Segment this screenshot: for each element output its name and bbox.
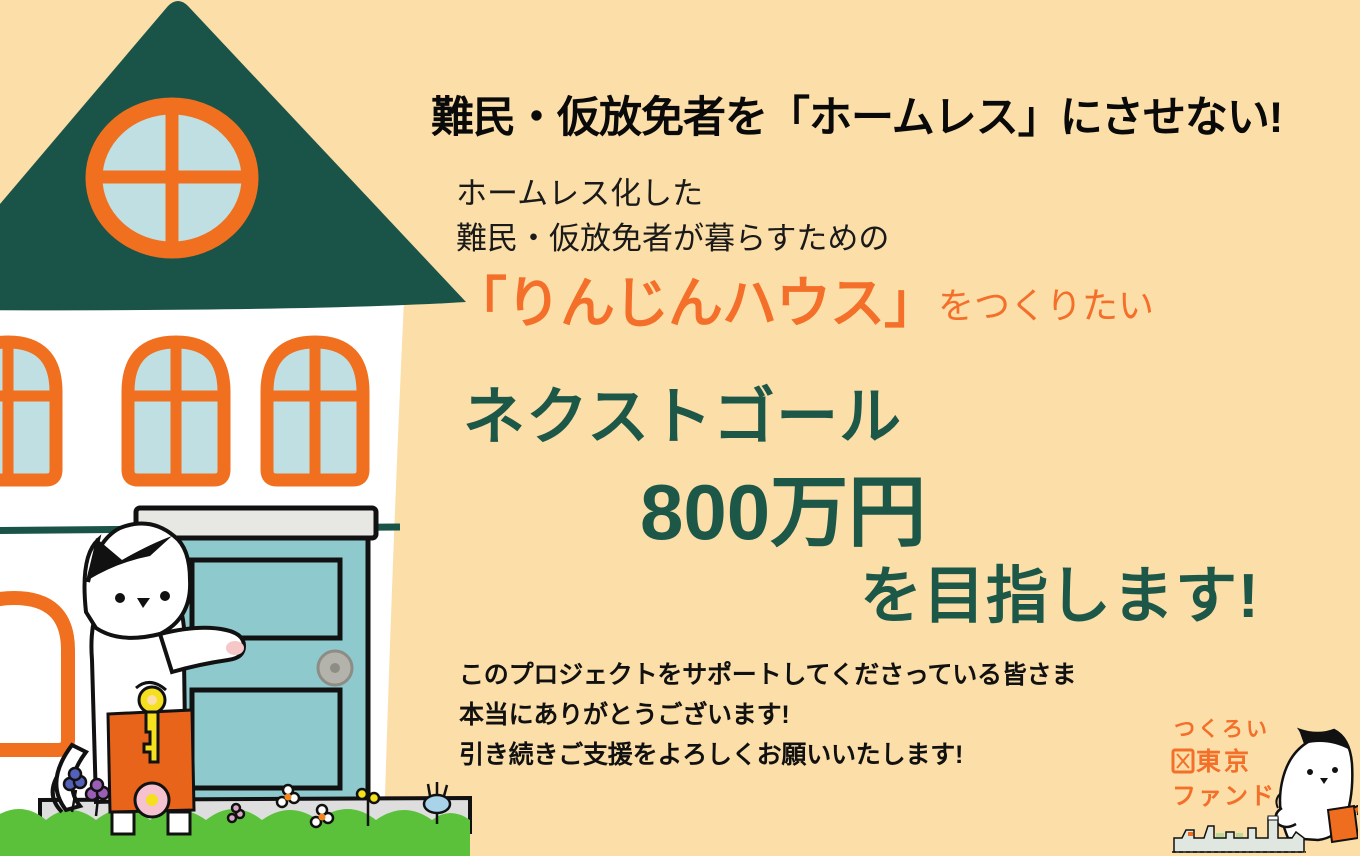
paw-pad [226,641,244,655]
logo-line-1: つくろい [1174,718,1270,741]
body-line-1: このプロジェクトをサポートしてくださっている皆さま [459,655,1076,691]
round-window [94,106,250,250]
body-line-3: 引き続きご支援をよろしくお願いいたします! [459,735,963,771]
subtitle-highlight-line: 「りんじんハウス」をつくりたい [452,258,1154,338]
arched-window [128,342,224,480]
logo-line-2: 東京 [1196,747,1252,776]
house-illustration [0,0,480,856]
next-goal-label: ネクストゴール [463,366,902,456]
subtitle-line-1: ホームレス化した [456,168,703,213]
poster-canvas: 難民・仮放免者を「ホームレス」にさせない! ホームレス化した 難民・仮放免者が暮… [0,0,1360,856]
project-name-highlight: 「りんじんハウス」 [452,272,938,334]
logo-line-3: ファンド [1172,783,1276,810]
subtitle-line-2: 難民・仮放免者が暮らすための [456,213,889,258]
body-line-2: 本当にありがとうございます! [459,695,790,731]
arched-window [267,342,363,480]
lower-window [0,598,68,750]
logo-apron [1328,806,1358,842]
organization-logo: つくろい 東京 ファンド [1168,712,1358,856]
page-title: 難民・仮放免者を「ホームレス」にさせない! [431,83,1282,145]
arched-window [0,342,56,480]
apron-flower [135,783,169,817]
upper-windows [0,342,363,480]
project-name-tail: をつくりたい [938,285,1154,326]
next-goal-tail: を目指します! [860,545,1260,635]
logo-cat-mascot [1276,730,1358,842]
